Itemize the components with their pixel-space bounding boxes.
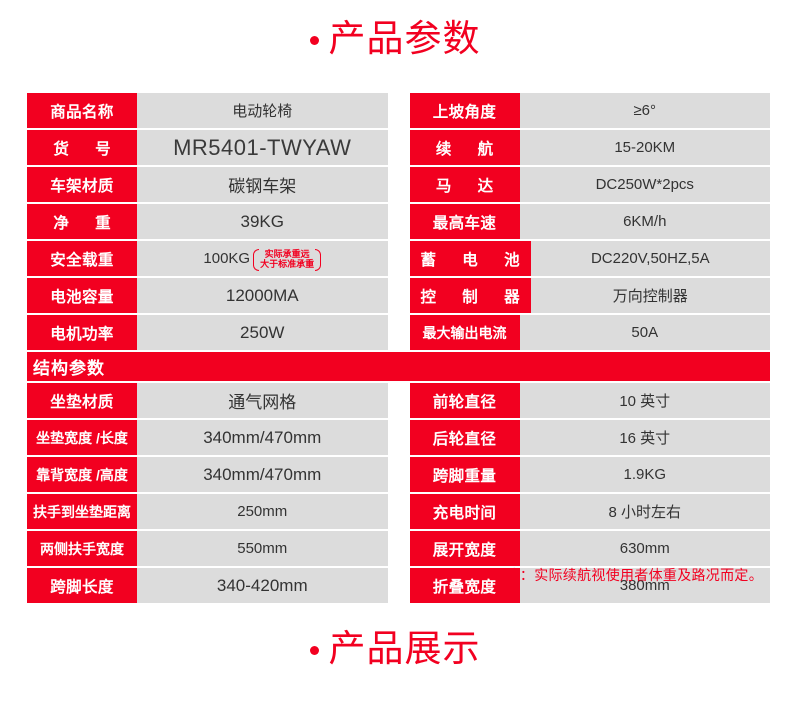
spec-label: 充电时间 <box>410 494 520 529</box>
spec-label: 电机功率 <box>27 315 137 350</box>
spec-label: 跨脚长度 <box>27 568 137 603</box>
spec-label: 商品名称 <box>27 93 137 128</box>
spec-value: 39KG <box>137 204 388 239</box>
spec-label: 两侧扶手宽度 <box>27 531 137 566</box>
spec-label: 马 达 <box>410 167 520 202</box>
spec-value: DC220V,50HZ,5A <box>531 241 770 276</box>
row-half-right: 跨脚重量 1.9KG <box>399 457 771 492</box>
spec-label: 控 制 器 <box>410 278 531 313</box>
row-half-left: 车架材质 碳钢车架 <box>27 167 399 202</box>
spec-value: ≥6° <box>520 93 771 128</box>
table-row: 扶手到坐垫距离 250mm 充电时间 8 小时左右 <box>27 494 770 529</box>
spec-value: 340mm/470mm <box>137 457 388 492</box>
row-half-left: 跨脚长度 340-420mm <box>27 568 399 603</box>
spec-label: 扶手到坐垫距离 <box>27 494 137 529</box>
spec-value-model-number: MR5401-TWYAW <box>137 130 388 165</box>
spec-value: 550mm <box>137 531 388 566</box>
spec-label: 跨脚重量 <box>410 457 520 492</box>
row-half-left: 坐垫宽度 /长度 340mm/470mm <box>27 420 399 455</box>
spec-label: 车架材质 <box>27 167 137 202</box>
spec-value: 通气网格 <box>137 383 388 418</box>
spec-label: 续 航 <box>410 130 520 165</box>
spec-label: 折叠宽度 <box>410 568 520 603</box>
table-row: 商品名称 电动轮椅 上坡角度 ≥6° <box>27 93 770 128</box>
spec-label: 后轮直径 <box>410 420 520 455</box>
spec-value: 16 英寸 <box>520 420 771 455</box>
row-half-left: 两侧扶手宽度 550mm <box>27 531 399 566</box>
row-half-right: 续 航 15-20KM <box>399 130 771 165</box>
row-half-left: 安全载重 100KG 实际承重远 大于标准承重 <box>27 241 399 276</box>
spec-label: 货 号 <box>27 130 137 165</box>
spec-label: 靠背宽度 /高度 <box>27 457 137 492</box>
row-half-left: 商品名称 电动轮椅 <box>27 93 399 128</box>
spec-value: 50A <box>520 315 771 350</box>
table-row: 两侧扶手宽度 550mm 展开宽度 630mm <box>27 531 770 566</box>
section-banner-structural-parameters: 结构参数 <box>27 352 770 381</box>
row-half-left: 靠背宽度 /高度 340mm/470mm <box>27 457 399 492</box>
row-half-right: 蓄 电 池 DC220V,50HZ,5A <box>399 241 771 276</box>
spec-label: 坐垫宽度 /长度 <box>27 420 137 455</box>
spec-value: DC250W*2pcs <box>520 167 771 202</box>
spec-label: 坐垫材质 <box>27 383 137 418</box>
row-half-right: 控 制 器 万向控制器 <box>399 278 771 313</box>
spec-value: 340-420mm <box>137 568 388 603</box>
row-half-right: 充电时间 8 小时左右 <box>399 494 771 529</box>
bullet-icon <box>310 646 319 655</box>
page-title-product-parameters: 产品参数 <box>0 20 790 57</box>
spec-value: 100KG 实际承重远 大于标准承重 <box>137 241 388 276</box>
load-capacity-annotation: 实际承重远 大于标准承重 <box>253 249 321 269</box>
row-half-right: 最高车速 6KM/h <box>399 204 771 239</box>
spec-value: 碳钢车架 <box>137 167 388 202</box>
spec-label: 蓄 电 池 <box>410 241 531 276</box>
row-half-left: 电机功率 250W <box>27 315 399 350</box>
spec-value: 万向控制器 <box>531 278 770 313</box>
spec-label: 电池容量 <box>27 278 137 313</box>
row-half-right: 展开宽度 630mm <box>399 531 771 566</box>
row-half-right: 前轮直径 10 英寸 <box>399 383 771 418</box>
spec-label: 安全载重 <box>27 241 137 276</box>
spec-label: 最高车速 <box>410 204 520 239</box>
table-row: 坐垫材质 通气网格 前轮直径 10 英寸 <box>27 383 770 418</box>
table-row: 靠背宽度 /高度 340mm/470mm 跨脚重量 1.9KG <box>27 457 770 492</box>
annotation-line-1: 实际承重远 <box>265 249 310 259</box>
spec-value: 340mm/470mm <box>137 420 388 455</box>
spec-value-text: 100KG <box>203 250 250 267</box>
value-with-annotation: 100KG 实际承重远 大于标准承重 <box>137 249 388 269</box>
annotation-line-2: 大于标准承重 <box>260 259 314 269</box>
spec-value: 630mm <box>520 531 771 566</box>
table-row: 电机功率 250W 最大输出电流 50A <box>27 315 770 350</box>
table-row: 坐垫宽度 /长度 340mm/470mm 后轮直径 16 英寸 <box>27 420 770 455</box>
table-row: 电池容量 12000MA 控 制 器 万向控制器 <box>27 278 770 313</box>
spec-table: 商品名称 电动轮椅 上坡角度 ≥6° 货 号 MR5401-TWYAW 续 航 … <box>27 93 770 605</box>
spec-value: 6KM/h <box>520 204 771 239</box>
spec-label: 最大输出电流 <box>410 315 520 350</box>
table-row: 净 重 39KG 最高车速 6KM/h <box>27 204 770 239</box>
bullet-icon <box>310 36 319 45</box>
spec-value: 250mm <box>137 494 388 529</box>
section-title-text: 产品展示 <box>329 630 481 667</box>
row-half-right: 后轮直径 16 英寸 <box>399 420 771 455</box>
row-half-left: 坐垫材质 通气网格 <box>27 383 399 418</box>
row-half-left: 电池容量 12000MA <box>27 278 399 313</box>
table-row: 安全载重 100KG 实际承重远 大于标准承重 蓄 电 池 DC220V,50H… <box>27 241 770 276</box>
spec-value: 电动轮椅 <box>137 93 388 128</box>
table-row: 货 号 MR5401-TWYAW 续 航 15-20KM <box>27 130 770 165</box>
spec-value: 15-20KM <box>520 130 771 165</box>
row-half-left: 净 重 39KG <box>27 204 399 239</box>
row-half-right: 最大输出电流 50A <box>399 315 771 350</box>
section-title-product-display: 产品展示 <box>0 630 790 667</box>
spec-label: 净 重 <box>27 204 137 239</box>
product-spec-page: 产品参数 商品名称 电动轮椅 上坡角度 ≥6° 货 号 MR5401-TWYAW… <box>0 0 790 706</box>
row-half-left: 货 号 MR5401-TWYAW <box>27 130 399 165</box>
footnote-range-disclaimer: 注：实际续航视使用者体重及路况而定。 <box>506 565 763 585</box>
row-half-left: 扶手到坐垫距离 250mm <box>27 494 399 529</box>
spec-value: 1.9KG <box>520 457 771 492</box>
spec-value: 8 小时左右 <box>520 494 771 529</box>
spec-label: 展开宽度 <box>410 531 520 566</box>
row-half-right: 上坡角度 ≥6° <box>399 93 771 128</box>
spec-label: 上坡角度 <box>410 93 520 128</box>
row-half-right: 马 达 DC250W*2pcs <box>399 167 771 202</box>
spec-value: 250W <box>137 315 388 350</box>
spec-value: 10 英寸 <box>520 383 771 418</box>
spec-label: 前轮直径 <box>410 383 520 418</box>
page-title-text: 产品参数 <box>329 20 481 57</box>
table-row: 车架材质 碳钢车架 马 达 DC250W*2pcs <box>27 167 770 202</box>
spec-value: 12000MA <box>137 278 388 313</box>
